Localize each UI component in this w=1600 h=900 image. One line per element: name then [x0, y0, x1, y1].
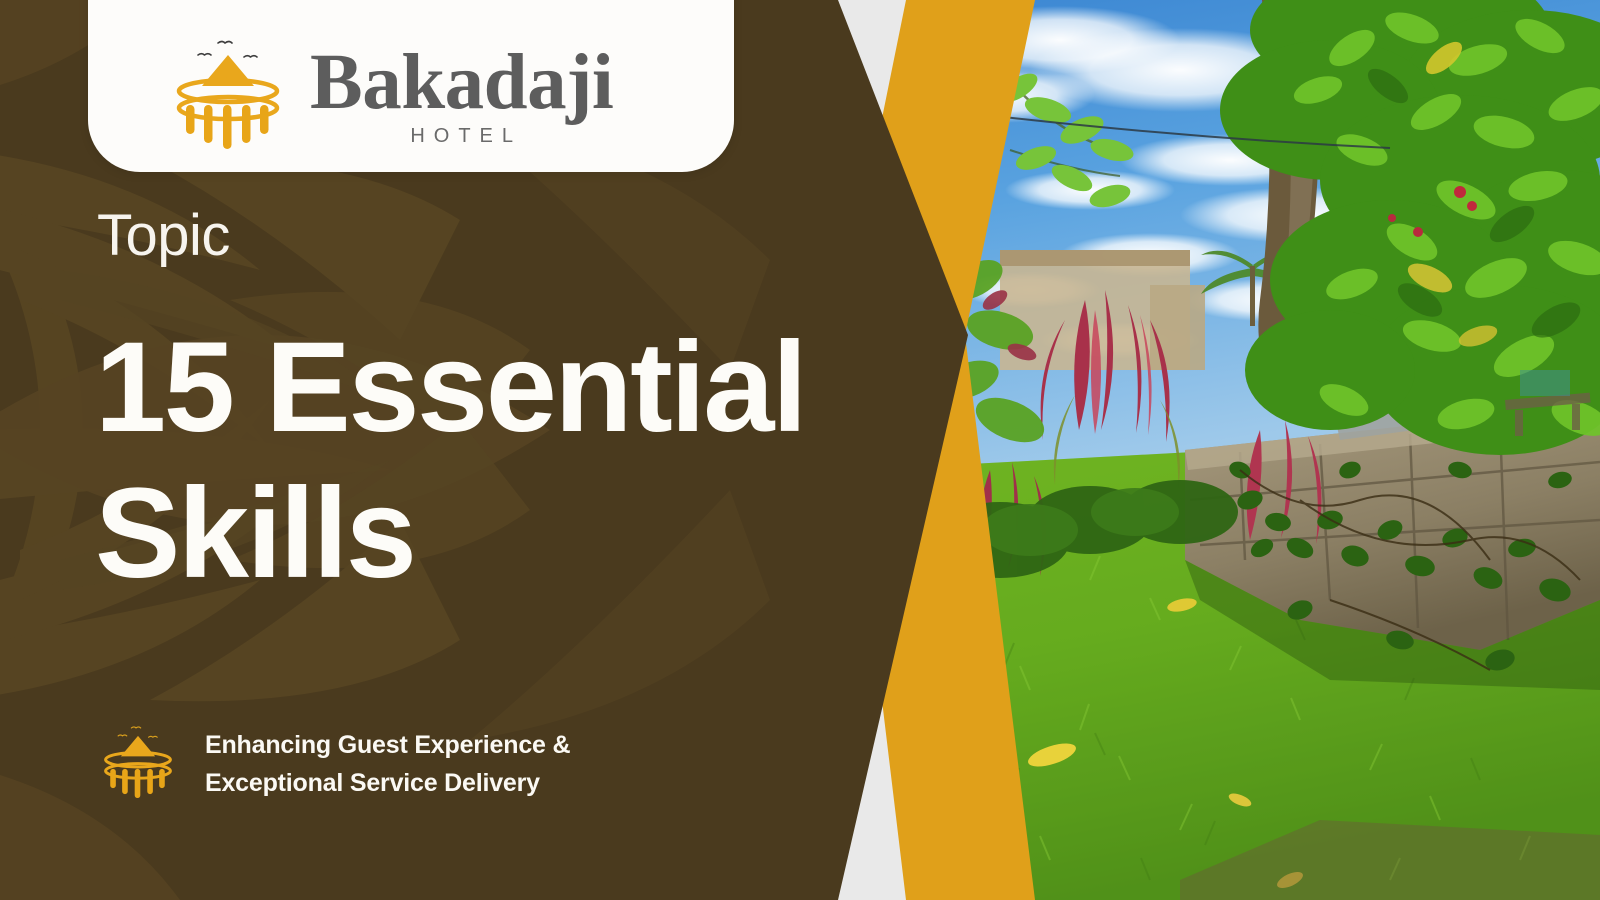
- slide-subtitle-line-1: Enhancing Guest Experience &: [205, 731, 570, 759]
- topic-eyebrow-label: Topic: [97, 202, 230, 269]
- hotel-pavilion-icon: [166, 35, 290, 156]
- brand-name: Bakadaji: [310, 45, 613, 120]
- slide-subtitle: Enhancing Guest Experience & Exceptional…: [205, 726, 570, 802]
- brand-descriptor: HOTEL: [401, 126, 522, 146]
- slide-subtitle-line-2: Exceptional Service Delivery: [205, 769, 540, 797]
- slide-title-line-2: Skills: [95, 461, 855, 607]
- slide-footer: Enhancing Guest Experience & Exceptional…: [97, 722, 570, 805]
- slide-title: 15 Essential Skills: [95, 315, 855, 607]
- hotel-pavilion-icon: [97, 722, 179, 805]
- slide-root: Bakadaji HOTEL Topic 15 Essential Skills: [0, 0, 1600, 900]
- slide-content: Bakadaji HOTEL Topic 15 Essential Skills: [0, 0, 1600, 900]
- brand-logo-card: Bakadaji HOTEL: [88, 0, 734, 172]
- slide-title-line-1: 15 Essential: [95, 315, 855, 461]
